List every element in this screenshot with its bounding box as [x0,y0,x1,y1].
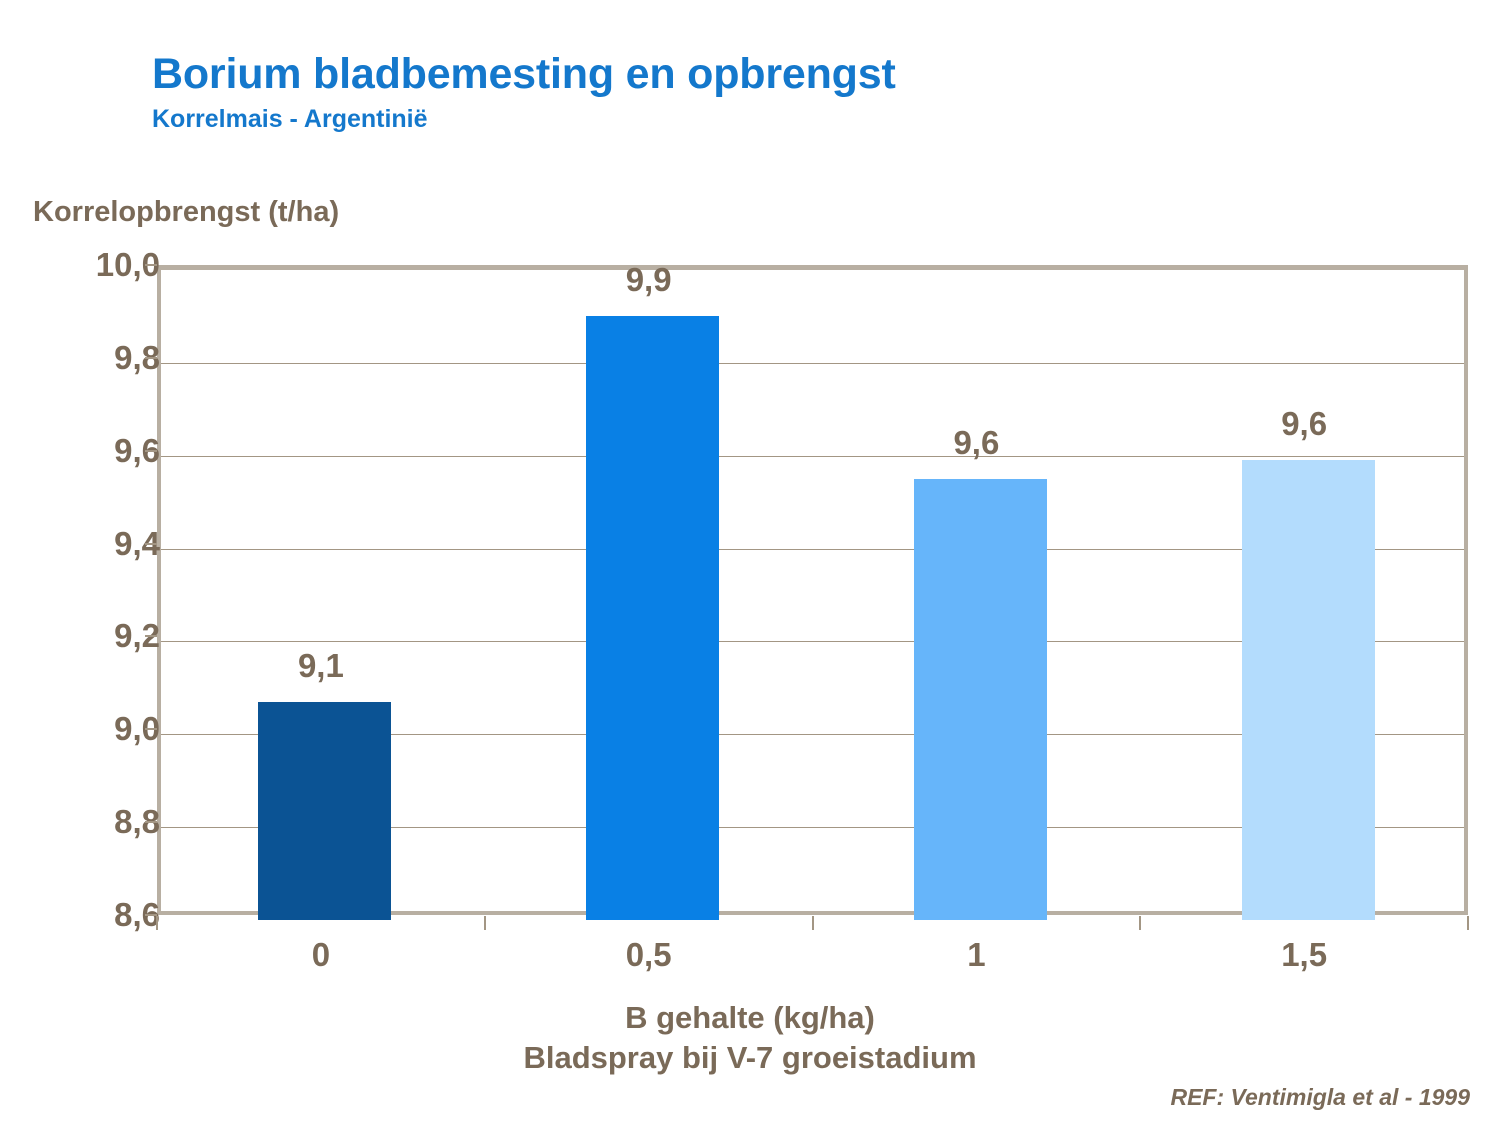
y-axis-tick-mark [145,357,157,359]
page-subtitle: Korrelmais - Argentinië [152,105,1352,134]
y-axis-tick-label: 9,6 [20,432,160,470]
y-axis-tick-mark [145,264,157,266]
gridline [161,456,1464,457]
x-axis-tick-mark [812,916,814,930]
y-axis-tick-mark [145,635,157,637]
bar[interactable] [258,702,391,920]
y-axis-tick-mark [145,728,157,730]
x-axis-tick-mark [1139,916,1141,930]
y-axis-tick-mark [145,450,157,452]
y-axis-tick-label: 8,8 [20,803,160,841]
bar-value-label: 9,6 [953,424,999,462]
reference-note: REF: Ventimigla et al - 1999 [1170,1084,1470,1111]
y-axis-caption: Korrelopbrengst (t/ha) [33,196,339,229]
gridline [161,363,1464,364]
x-axis-tick-mark [156,916,158,930]
bar[interactable] [914,479,1047,920]
page-title: Borium bladbemesting en opbrengst [152,52,1352,97]
x-axis-tick-label: 0 [312,936,330,974]
y-axis-tick-label: 10,0 [20,246,160,284]
x-axis-tick-label: 1,5 [1281,936,1327,974]
y-axis-tick-label: 9,0 [20,710,160,748]
x-axis-tick-mark [484,916,486,930]
y-axis-tick-label: 8,6 [20,896,160,934]
title-block: Borium bladbemesting en opbrengst Korrel… [152,52,1352,134]
x-axis-caption-block: B gehalte (kg/ha) Bladspray bij V-7 groe… [0,998,1500,1077]
bar-value-label: 9,9 [626,261,672,299]
x-axis-tick-label: 1 [967,936,985,974]
y-axis-tick-label: 9,8 [20,339,160,377]
x-axis-caption-primary: B gehalte (kg/ha) [0,998,1500,1038]
y-axis-tick-mark [145,821,157,823]
x-axis-caption-secondary: Bladspray bij V-7 groeistadium [0,1038,1500,1078]
y-axis-tick-label: 9,2 [20,617,160,655]
bar-value-label: 9,1 [298,647,344,685]
plot-inner [161,270,1464,911]
bar[interactable] [1242,460,1375,920]
plot-area [157,265,1468,915]
y-axis-tick-label: 9,4 [20,525,160,563]
y-axis-tick-mark [145,543,157,545]
bar[interactable] [586,316,719,920]
x-axis-tick-mark [1467,916,1469,930]
bar-value-label: 9,6 [1281,405,1327,443]
x-axis-tick-label: 0,5 [626,936,672,974]
